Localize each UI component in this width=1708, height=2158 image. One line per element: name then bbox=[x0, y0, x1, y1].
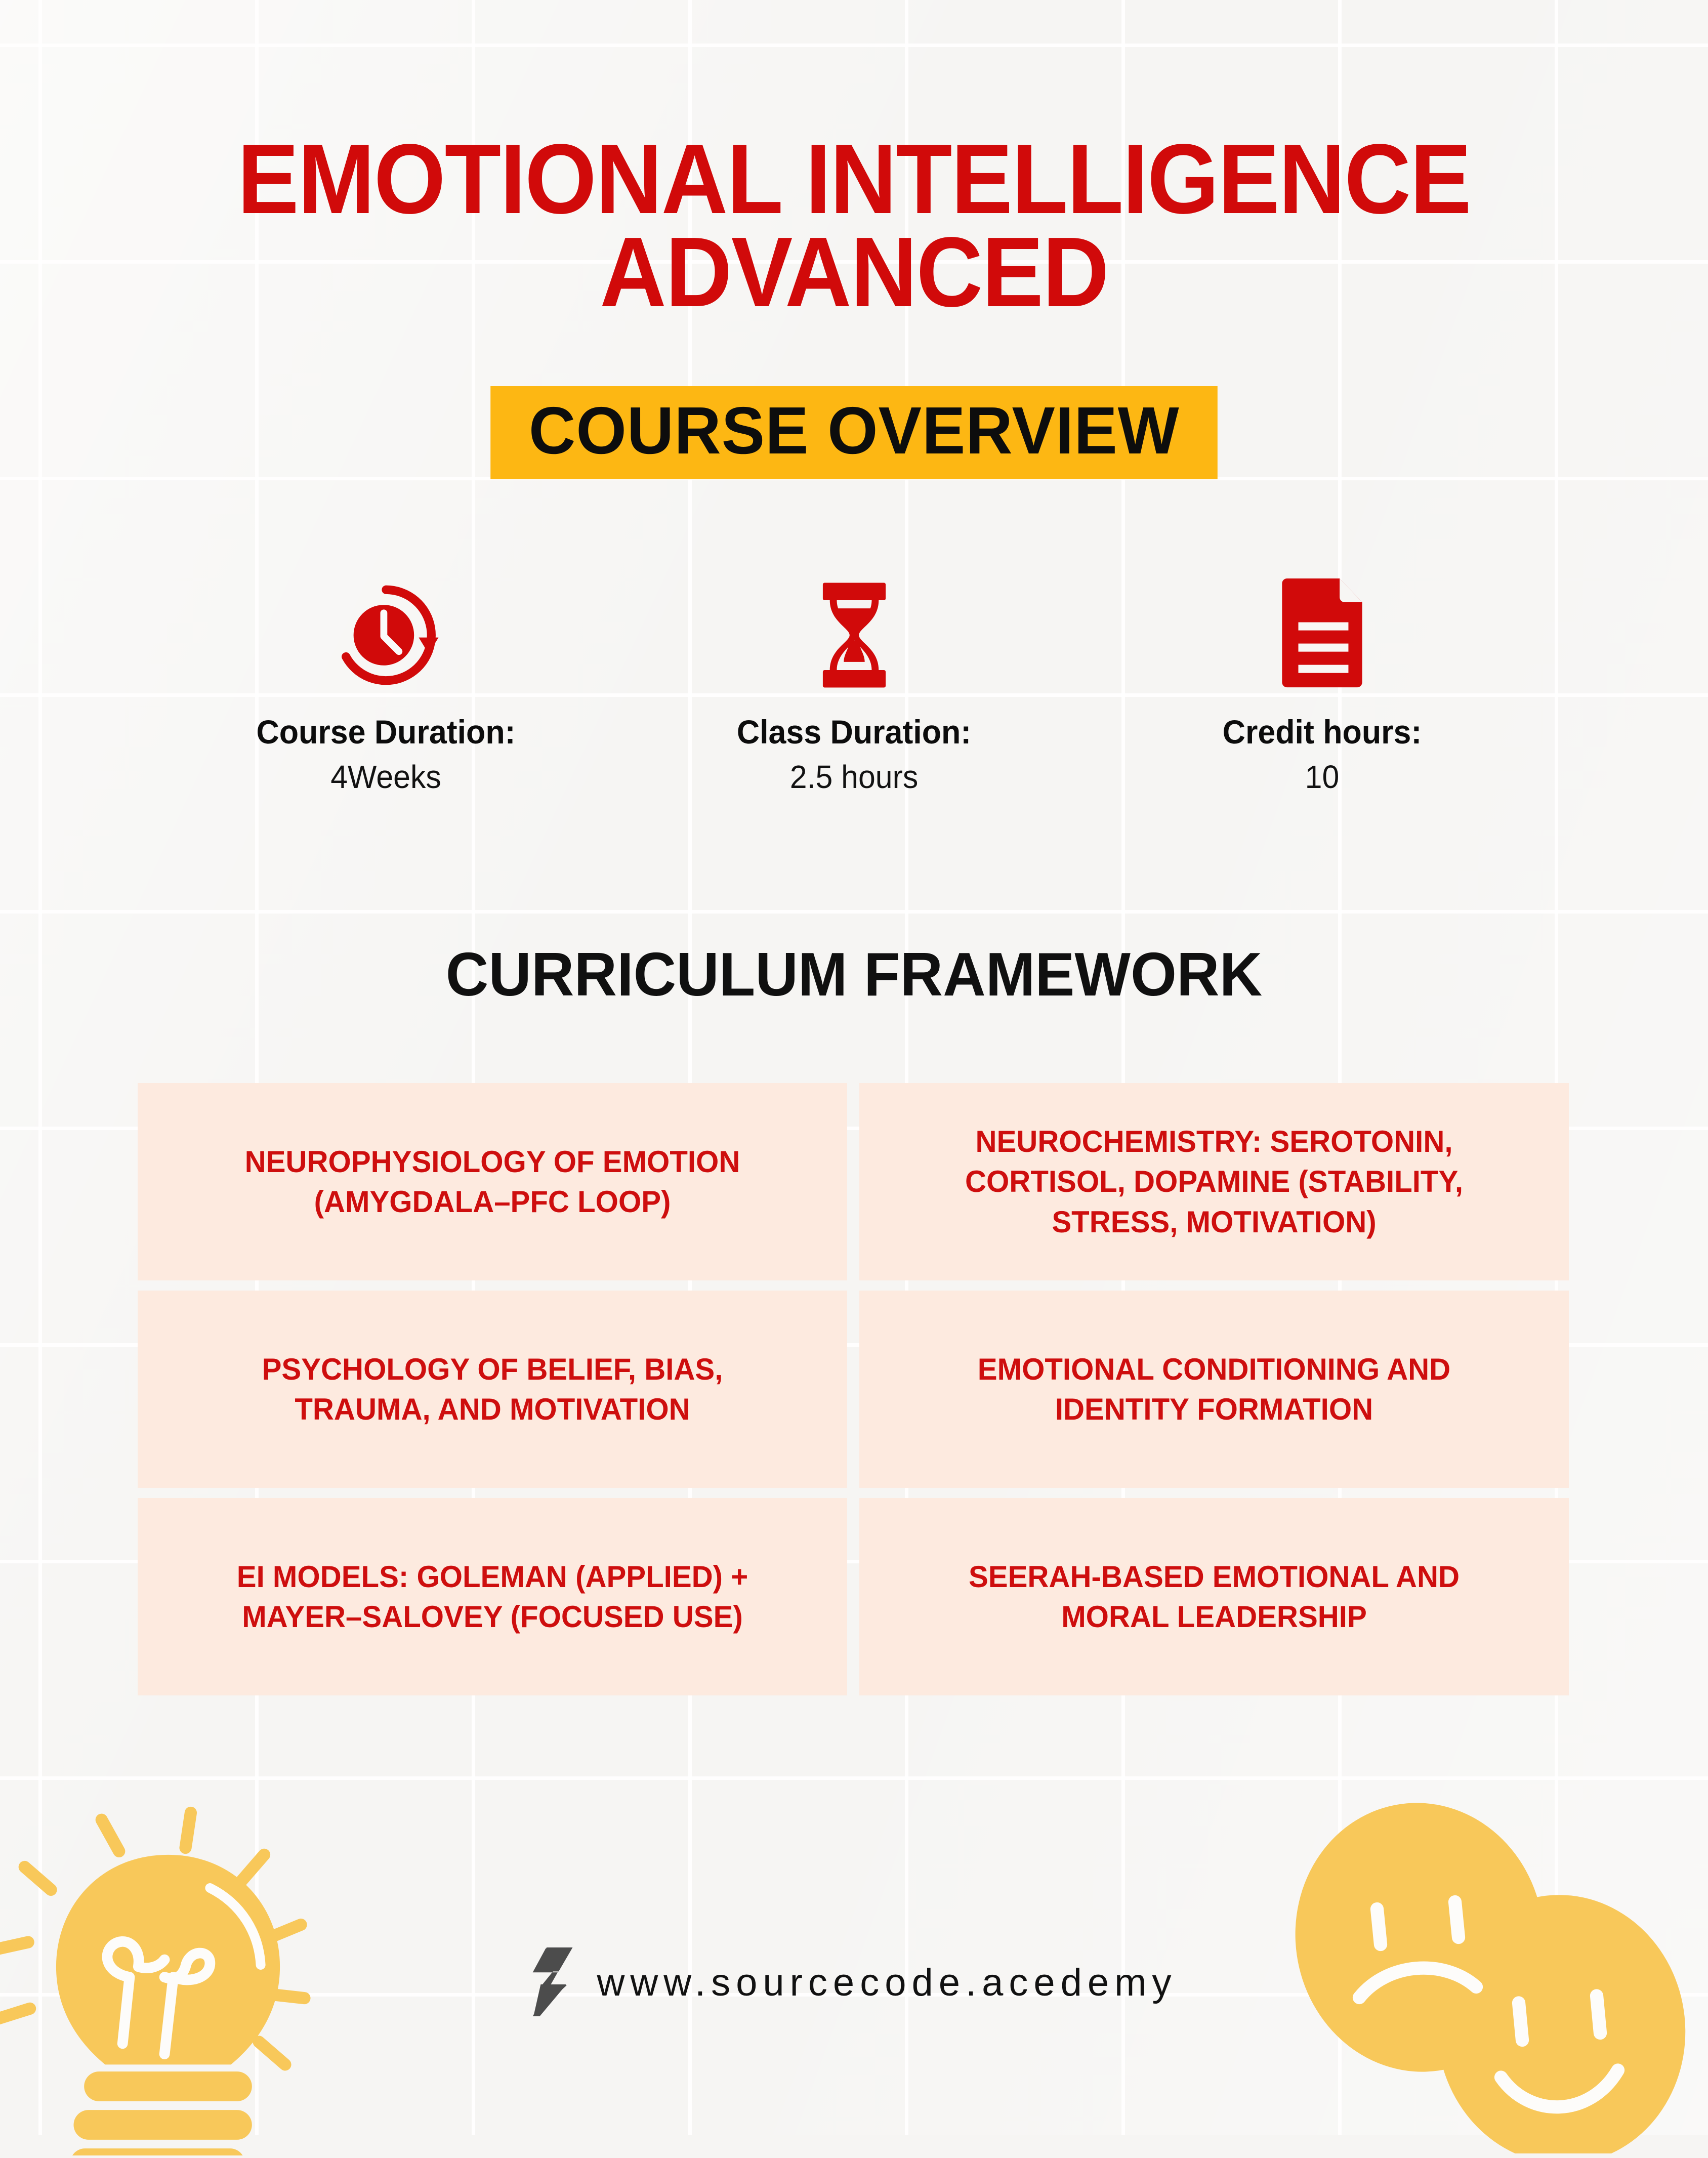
curriculum-card-text: PSYCHOLOGY OF BELIEF, BIAS, TRAUMA, AND … bbox=[192, 1349, 792, 1429]
curriculum-card-text: SEERAH-BASED EMOTIONAL AND MORAL LEADERS… bbox=[914, 1557, 1514, 1637]
curriculum-card-text: EI MODELS: GOLEMAN (APPLIED) + MAYER–SAL… bbox=[192, 1557, 792, 1637]
stat-value: 4Weeks bbox=[163, 758, 608, 796]
page-title: EMOTIONAL INTELLIGENCE ADVANCED bbox=[60, 133, 1648, 319]
stat-value: 2.5 hours bbox=[632, 758, 1076, 796]
curriculum-card: EI MODELS: GOLEMAN (APPLIED) + MAYER–SAL… bbox=[138, 1498, 847, 1695]
footer: www.sourcecode.acedemy bbox=[0, 1947, 1708, 2017]
curriculum-card: EMOTIONAL CONDITIONING AND IDENTITY FORM… bbox=[859, 1291, 1569, 1488]
course-stats-row: Course Duration: 4Weeks Class Duration: … bbox=[152, 572, 1556, 796]
stat-class-duration: Class Duration: 2.5 hours bbox=[620, 572, 1088, 796]
stat-label: Credit hours: bbox=[1100, 713, 1545, 751]
course-overview-banner: COURSE OVERVIEW bbox=[490, 386, 1218, 479]
curriculum-card: NEUROPHYSIOLOGY OF EMOTION (AMYGDALA–PFC… bbox=[138, 1083, 847, 1280]
stat-label: Class Duration: bbox=[632, 713, 1076, 751]
stat-course-duration: Course Duration: 4Weeks bbox=[152, 572, 620, 796]
curriculum-card: SEERAH-BASED EMOTIONAL AND MORAL LEADERS… bbox=[859, 1498, 1569, 1695]
clock-rotate-icon bbox=[152, 572, 620, 698]
curriculum-card-text: EMOTIONAL CONDITIONING AND IDENTITY FORM… bbox=[914, 1349, 1514, 1429]
hourglass-icon bbox=[620, 572, 1088, 698]
curriculum-card: NEUROCHEMISTRY: SEROTONIN, CORTISOL, DOP… bbox=[859, 1083, 1569, 1280]
stat-value: 10 bbox=[1100, 758, 1545, 796]
curriculum-card-text: NEUROCHEMISTRY: SEROTONIN, CORTISOL, DOP… bbox=[914, 1122, 1514, 1242]
curriculum-card-text: NEUROPHYSIOLOGY OF EMOTION (AMYGDALA–PFC… bbox=[192, 1142, 792, 1222]
curriculum-card-grid: NEUROPHYSIOLOGY OF EMOTION (AMYGDALA–PFC… bbox=[138, 1083, 1569, 1695]
course-overview-banner-wrap: COURSE OVERVIEW bbox=[0, 386, 1708, 479]
document-icon bbox=[1088, 572, 1556, 698]
title-line-2: ADVANCED bbox=[60, 226, 1648, 319]
poster-canvas: EMOTIONAL INTELLIGENCE ADVANCED COURSE O… bbox=[0, 0, 1708, 2135]
stat-credit-hours: Credit hours: 10 bbox=[1088, 572, 1556, 796]
curriculum-framework-heading: CURRICULUM FRAMEWORK bbox=[34, 939, 1674, 1010]
sourcecode-lightning-logo bbox=[531, 1947, 578, 2017]
curriculum-card: PSYCHOLOGY OF BELIEF, BIAS, TRAUMA, AND … bbox=[138, 1291, 847, 1488]
stat-label: Course Duration: bbox=[163, 713, 608, 751]
website-url: www.sourcecode.acedemy bbox=[597, 1961, 1177, 2005]
